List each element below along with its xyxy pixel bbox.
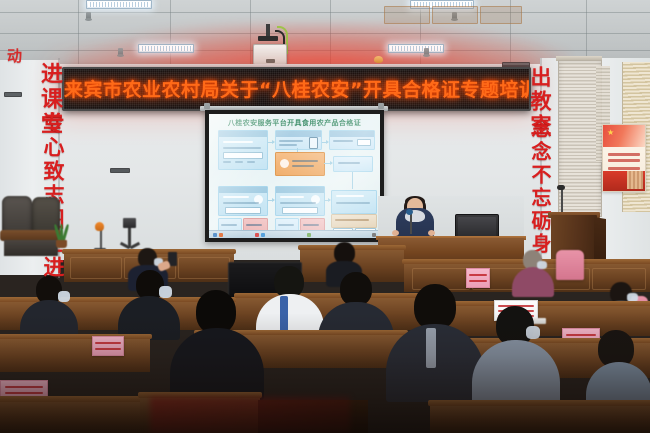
- conference-room-photo: 来宾市农业农村局关于“八桂农安”开具合格证专题培训会议 进课堂 专心致志图上进 …: [0, 0, 650, 433]
- slide-card-certificate: [275, 186, 325, 216]
- ceiling-projector: [253, 44, 287, 65]
- projection-screen-frame: 八桂农安服务平台开具食用农产品合格证: [205, 110, 384, 242]
- sprinkler-head: [118, 48, 123, 55]
- projection-screen: 八桂农安服务平台开具食用农产品合格证: [209, 114, 380, 238]
- ceiling-light-panel: [86, 0, 152, 9]
- star-icon: ★: [607, 129, 614, 137]
- laptop-screen: [458, 217, 496, 237]
- podium-microphone: [557, 185, 565, 190]
- audience-desk-row4d: [430, 404, 650, 433]
- slide-card-verify: [329, 130, 375, 150]
- smoke-detector: [374, 56, 383, 63]
- shirt-placket: [426, 328, 436, 368]
- audience-member: [20, 276, 76, 336]
- party-propaganda-poster: ★: [602, 124, 646, 192]
- audience-member: [256, 266, 322, 336]
- mobile-icon: [309, 137, 318, 149]
- audience-member: [512, 250, 552, 294]
- sprinkler-head: [86, 12, 91, 19]
- audience-desk-row4: [0, 400, 140, 433]
- slide-card-approve: [333, 156, 373, 172]
- presenter-microphone-stand: [410, 212, 412, 234]
- microphone-stand: [100, 229, 102, 249]
- projector-lens: [266, 59, 275, 63]
- pink-chair: [556, 250, 584, 280]
- audience-member: [170, 290, 262, 400]
- microphone-head: [95, 222, 104, 231]
- audience-member: [386, 284, 482, 402]
- slide-title: 八桂农安服务平台开具食用农产品合格证: [209, 118, 380, 128]
- audience-member: [472, 306, 558, 412]
- potted-plant: [54, 222, 68, 248]
- red-floor-carpet: [150, 397, 350, 433]
- ceiling-light-panel: [138, 44, 194, 53]
- avatar-icon: [280, 159, 289, 168]
- wall-bracket: [4, 92, 22, 97]
- seat-name-card: [92, 336, 124, 356]
- audience-desk-row3: [0, 338, 150, 372]
- slide-card-platform-login: [218, 130, 268, 170]
- great-wall-graphic: [627, 171, 643, 189]
- ceiling-light-panel: [388, 44, 444, 53]
- wall-hook: [110, 168, 130, 173]
- plant-pot: [56, 240, 67, 248]
- armchair-base: [4, 240, 58, 256]
- slide-card-product-entry: [218, 186, 268, 216]
- sprinkler-head: [424, 48, 429, 55]
- slide-note-band: [331, 214, 377, 228]
- podium-microphone-stand: [561, 188, 563, 214]
- led-sign-text: 来宾市农业农村局关于“八桂农安”开具合格证专题培训会议: [64, 75, 529, 102]
- slide-card-scan-issue: [331, 190, 377, 214]
- presenter-microphone: [406, 209, 413, 215]
- audience-member: [118, 270, 178, 336]
- tripod-camera: [123, 218, 136, 228]
- slide-card-upload-review: [275, 152, 325, 176]
- slide-taskbar: [209, 230, 380, 238]
- led-scrolling-sign: 来宾市农业农村局关于“八桂农安”开具合格证专题培训会议: [62, 67, 531, 111]
- slide-card-register: [275, 130, 322, 150]
- wall-slogan-left-edge: 动: [6, 48, 21, 66]
